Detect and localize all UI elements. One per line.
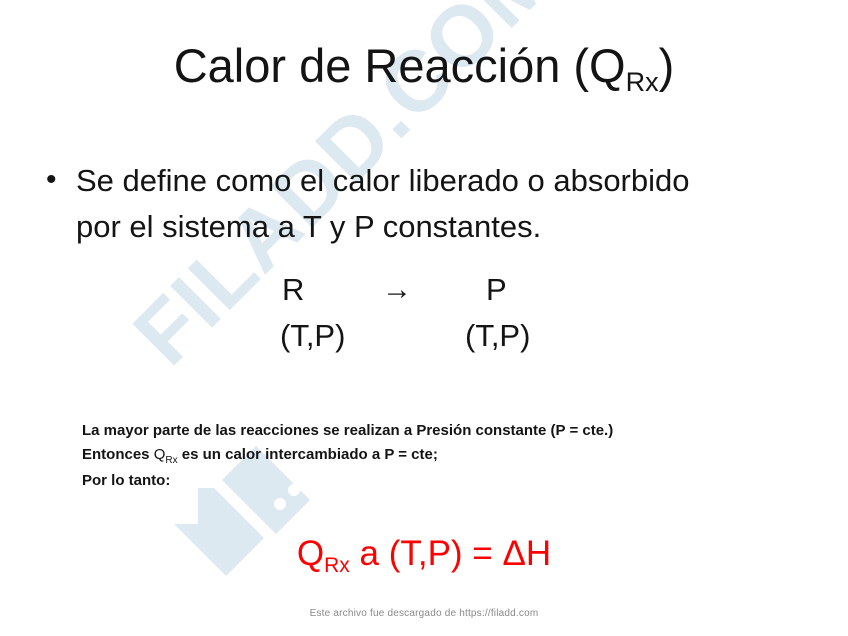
reaction-conditions-row: (T,P) (T,P) bbox=[0, 316, 848, 362]
note-line-2-prefix: Entonces bbox=[82, 446, 154, 463]
reaction-species-row: R → P bbox=[0, 270, 848, 316]
title-main: Calor de Reacción (Q bbox=[174, 39, 626, 92]
note-line-2: Entonces QRx es un calor intercambiado a… bbox=[82, 443, 782, 469]
footer-note: Este archivo fue descargado de https://f… bbox=[0, 608, 848, 619]
slide-content: Calor de Reacción (QRx) • Se define como… bbox=[0, 0, 848, 636]
note-line-1: La mayor parte de las reacciones se real… bbox=[82, 419, 782, 443]
reaction-scheme: R → P (T,P) (T,P) bbox=[0, 270, 848, 362]
notes-block: La mayor parte de las reacciones se real… bbox=[82, 419, 782, 493]
page-title: Calor de Reacción (QRx) bbox=[0, 40, 848, 92]
product-label: P bbox=[486, 270, 507, 310]
formula-rest: a (T,P) = ΔH bbox=[350, 534, 551, 573]
reactant-label: R bbox=[282, 270, 304, 310]
title-tail: ) bbox=[659, 39, 675, 92]
note-line-3: Por lo tanto: bbox=[82, 469, 782, 493]
list-item: • Se define como el calor liberado o abs… bbox=[42, 158, 822, 250]
bullet-marker-icon: • bbox=[42, 158, 76, 202]
note-heat-symbol: Q bbox=[154, 446, 166, 463]
note-line-2-suffix: es un calor intercambiado a P = cte; bbox=[178, 446, 438, 463]
bullet-line-1: Se define como el calor liberado o absor… bbox=[76, 158, 690, 204]
bullet-line-2: por el sistema a T y P constantes. bbox=[76, 204, 690, 250]
note-heat-subscript: Rx bbox=[165, 455, 177, 466]
result-formula: QRx a (T,P) = ΔH bbox=[0, 534, 848, 574]
reactant-conditions-label: (T,P) bbox=[280, 316, 345, 356]
formula-symbol: Q bbox=[297, 534, 324, 573]
formula-subscript: Rx bbox=[324, 554, 350, 577]
bullet-list: • Se define como el calor liberado o abs… bbox=[42, 158, 822, 250]
title-subscript: Rx bbox=[626, 67, 659, 97]
slide-canvas: FILADD.COM Calor de Reacción (QRx) • Se … bbox=[0, 0, 848, 636]
product-conditions-label: (T,P) bbox=[465, 316, 530, 356]
bullet-item-text: Se define como el calor liberado o absor… bbox=[76, 158, 690, 250]
reaction-arrow-icon: → bbox=[382, 270, 412, 310]
